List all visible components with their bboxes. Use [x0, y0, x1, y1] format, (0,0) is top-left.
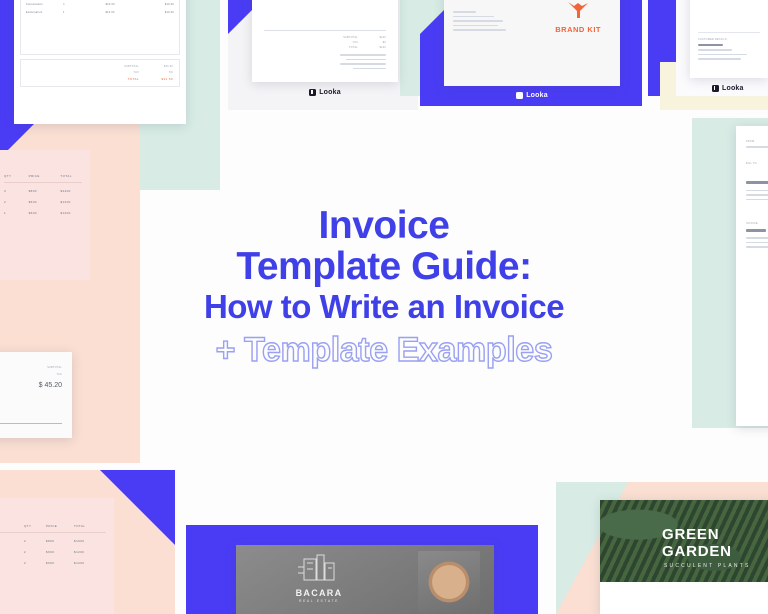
cell-price: $600	[46, 561, 66, 565]
totals-label: TOTAL	[349, 46, 358, 49]
cell-qty: 1	[63, 11, 85, 14]
bacara-title: BACARA	[276, 588, 362, 598]
cell-description: Consultation	[26, 3, 43, 6]
col-description: DESCRIPTION	[0, 524, 16, 528]
looka-watermark-top-center: Looka	[252, 84, 398, 100]
cell-description: Examination	[26, 11, 42, 14]
cell-total: $1200	[74, 561, 98, 565]
template-right-document[interactable]: FROM BILL TO INVOICE	[736, 126, 768, 426]
totals-value: $30.00	[153, 65, 173, 68]
totals-value: $31.50	[153, 77, 173, 81]
template-bacara-card[interactable]: BACARA REAL ESTATE	[236, 545, 494, 614]
cell-qty: 2	[4, 200, 17, 204]
cell-qty: 2	[24, 539, 38, 543]
customer-details-label: CUSTOMER DETAILS	[698, 38, 754, 41]
cell-qty: 1	[4, 211, 17, 215]
brand-kit-label: BRAND KIT	[555, 25, 601, 34]
right-doc-section: INVOICE	[746, 222, 768, 225]
looka-logo-icon	[712, 85, 719, 92]
looka-wordmark: Looka	[526, 92, 548, 99]
cell-total: $1200	[74, 550, 98, 554]
col-total: TOTAL	[74, 524, 98, 528]
col-price: PRICE	[46, 524, 66, 528]
hero-image: DESCRIPTION QTY PRICE TOTAL Occupational…	[0, 0, 768, 614]
looka-watermark-brand-kit: Looka	[444, 86, 620, 104]
totals-value: $0	[370, 41, 386, 44]
col-qty: QTY	[4, 174, 17, 178]
building-icon	[296, 553, 342, 581]
brand-bird-icon	[565, 0, 591, 20]
template-minimal-invoice[interactable]: SUBTOTAL $100 TAX $0 TOTAL $100	[252, 0, 398, 82]
cell-total: $2400	[60, 189, 82, 193]
green-garden-title: GREEN GARDEN	[662, 526, 768, 560]
bacara-subtitle: REAL ESTATE	[276, 599, 362, 603]
looka-wordmark: Looka	[722, 85, 744, 92]
looka-wordmark: Looka	[319, 89, 341, 96]
template-bottom-line-items[interactable]: DESCRIPTION QTY PRICE TOTAL Cleaning Pro…	[0, 498, 114, 614]
green-garden-subtitle: SUCCULENT PLANTS	[664, 563, 768, 569]
cell-qty: 2	[24, 550, 38, 554]
cell-price: $10.00	[106, 3, 132, 6]
cell-price: $600	[29, 211, 49, 215]
template-gradient-invoice[interactable]: DESCRIPTION QTY PRICE TOTAL Occupational…	[14, 0, 186, 124]
template-pink-line-items[interactable]: QTY PRICE TOTAL 3 $800 $2400 2 $600 $120…	[0, 150, 90, 280]
totals-label: TAX	[134, 71, 139, 74]
col-total: TOTAL	[60, 174, 82, 178]
totals-label: TAX	[353, 41, 358, 44]
cell-total: $10.00	[152, 11, 174, 14]
totals-label: TOTAL	[128, 77, 139, 81]
cell-total: $1600	[74, 539, 98, 543]
looka-watermark-top-right: Looka	[700, 80, 768, 96]
cell-qty: 1	[63, 3, 85, 6]
col-price: PRICE	[29, 174, 49, 178]
cell-total: $1200	[60, 211, 82, 215]
cell-price: $10.00	[105, 11, 131, 14]
right-doc-section: BILL TO	[746, 162, 768, 165]
receipt-label: TAX	[39, 373, 62, 376]
receipt-label: SUBTOTAL	[39, 366, 62, 369]
looka-logo-icon	[516, 92, 523, 99]
cell-description: Cleaning Pro	[0, 539, 16, 543]
cell-total: $10.00	[152, 3, 174, 6]
cell-qty: 2	[24, 561, 38, 565]
cell-description: Repair Pro	[0, 550, 16, 554]
totals-label: SUBTOTAL	[343, 36, 358, 39]
totals-value: $100	[370, 46, 386, 49]
fern-photo: GREEN GARDEN SUCCULENT PLANTS	[600, 500, 768, 582]
totals-label: SUBTOTAL	[124, 65, 139, 68]
cell-price: $600	[29, 200, 49, 204]
cell-price: $800	[29, 189, 49, 193]
col-qty: QTY	[24, 524, 38, 528]
totals-value: 5%	[153, 71, 173, 74]
template-green-garden-card[interactable]: GREEN GARDEN SUCCULENT PLANTS	[600, 500, 768, 614]
totals-value: $100	[370, 36, 386, 39]
clock-photo	[418, 551, 480, 613]
template-brand-kit-invoice[interactable]: SUBTOTAL TAX TOTAL $240 $20 $260	[444, 0, 620, 86]
right-doc-section: FROM	[746, 140, 768, 143]
template-receipt-total[interactable]: SUBTOTAL TAX $ 45.20	[0, 352, 72, 438]
cell-price: $600	[46, 550, 66, 554]
receipt-total: $ 45.20	[39, 382, 62, 389]
cell-description: Paint Pro	[0, 561, 16, 565]
cell-price: $800	[46, 539, 66, 543]
cell-total: $1200	[60, 200, 82, 204]
cell-qty: 3	[4, 189, 17, 193]
looka-logo-icon	[309, 89, 316, 96]
template-customer-details-card[interactable]: CUSTOMER DETAILS	[690, 0, 768, 78]
